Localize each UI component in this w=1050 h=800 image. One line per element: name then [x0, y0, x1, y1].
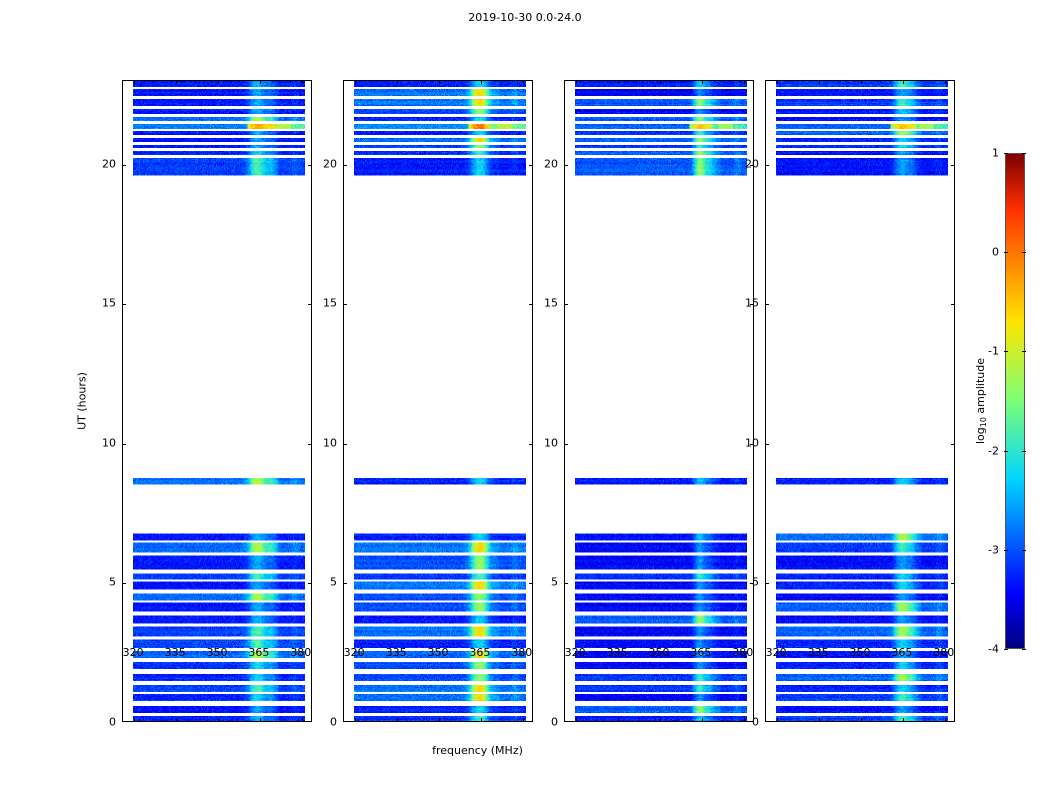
colorbar-ticklabel: 0: [992, 246, 999, 259]
x-axis-ticklabel: 365: [690, 646, 711, 659]
x-axis-tick-top: [777, 80, 778, 84]
x-axis-tick-top: [134, 80, 135, 84]
y-axis-tick-right: [951, 165, 955, 166]
x-axis-tick: [777, 718, 778, 722]
x-axis-ticklabel: 350: [428, 646, 449, 659]
y-axis-tick: [765, 304, 769, 305]
x-axis-tick-top: [218, 80, 219, 84]
y-axis-tick: [122, 304, 126, 305]
x-axis-tick-top: [576, 80, 577, 84]
x-axis-tick-top: [355, 80, 356, 84]
heatmap-panel-yy[interactable]: YY, V9*V15=EA07*EA26: [343, 80, 533, 722]
x-axis-tick-top: [861, 80, 862, 84]
x-axis-ticklabel: 350: [850, 646, 871, 659]
colorbar-tick: [1004, 550, 1008, 551]
x-axis-tick: [861, 718, 862, 722]
x-axis-ticklabel: 365: [891, 646, 912, 659]
y-axis-ticklabel: 5: [731, 576, 759, 589]
spectrogram-image-yy: [344, 81, 532, 721]
y-axis-ticklabel: 0: [309, 716, 337, 729]
x-axis-ticklabel: 350: [649, 646, 670, 659]
colorbar-ticklabel: -1: [988, 345, 999, 358]
y-axis-tick: [122, 165, 126, 166]
y-axis-ticklabel: 0: [530, 716, 558, 729]
colorbar-ticklabel: -3: [988, 543, 999, 556]
x-axis-tick-top: [903, 80, 904, 84]
spectrogram-image-xy: [565, 81, 753, 721]
colorbar-ticklabel: -4: [988, 643, 999, 656]
y-axis-ticklabel: 5: [88, 576, 116, 589]
x-axis-tick: [355, 718, 356, 722]
heatmap-panel-xx[interactable]: XX, V9*V15=EA07*EA26: [122, 80, 312, 722]
y-axis-ticklabel: 10: [731, 436, 759, 449]
x-axis-tick-top: [819, 80, 820, 84]
x-axis-tick: [523, 718, 524, 722]
colorbar-tick: [1004, 252, 1008, 253]
spectrogram-image-xx: [123, 81, 311, 721]
colorbar[interactable]: 10-1-2-3-4: [1005, 153, 1025, 649]
y-axis-ticklabel: 20: [731, 157, 759, 170]
y-axis-tick: [765, 165, 769, 166]
spectrogram-canvas: [344, 81, 532, 721]
x-axis-tick-top: [702, 80, 703, 84]
x-axis-tick: [819, 718, 820, 722]
y-axis-tick-right: [951, 583, 955, 584]
x-axis-tick-top: [744, 80, 745, 84]
y-axis-ticklabel: 0: [88, 716, 116, 729]
y-axis-ticklabel: 10: [530, 436, 558, 449]
heatmap-panel-yx[interactable]: YX, V9*V15=EA07*EA26: [765, 80, 955, 722]
x-axis-tick: [260, 718, 261, 722]
colorbar-tick-right: [1022, 451, 1026, 452]
x-axis-ticklabel: 335: [165, 646, 186, 659]
x-axis-ticklabel: 320: [344, 646, 365, 659]
x-axis-tick: [481, 718, 482, 722]
colorbar-label: log10 amplitude: [974, 358, 990, 444]
y-axis-tick-right: [951, 444, 955, 445]
x-axis-tick: [218, 718, 219, 722]
colorbar-tick-right: [1022, 351, 1026, 352]
y-axis-label: UT (hours): [76, 372, 89, 430]
x-axis-ticklabel: 335: [607, 646, 628, 659]
colorbar-label-subscript: 10: [979, 417, 988, 427]
x-axis-ticklabel: 365: [469, 646, 490, 659]
x-axis-label: frequency (MHz): [0, 744, 955, 757]
figure-canvas: 2019-10-30 0.0-24.0 XX, V9*V15=EA07*EA26…: [0, 0, 1050, 800]
y-axis-ticklabel: 5: [309, 576, 337, 589]
spectrogram-canvas: [766, 81, 954, 721]
y-axis-tick: [564, 444, 568, 445]
y-axis-tick: [122, 444, 126, 445]
x-axis-ticklabel: 320: [766, 646, 787, 659]
x-axis-tick: [439, 718, 440, 722]
x-axis-tick: [702, 718, 703, 722]
y-axis-ticklabel: 0: [731, 716, 759, 729]
x-axis-tick-top: [439, 80, 440, 84]
x-axis-ticklabel: 335: [386, 646, 407, 659]
x-axis-tick-top: [523, 80, 524, 84]
x-axis-tick: [576, 718, 577, 722]
y-axis-ticklabel: 20: [530, 157, 558, 170]
spectrogram-canvas: [123, 81, 311, 721]
x-axis-tick: [302, 718, 303, 722]
y-axis-tick: [564, 165, 568, 166]
colorbar-tick-right: [1022, 252, 1026, 253]
x-axis-tick-top: [660, 80, 661, 84]
y-axis-tick: [343, 304, 347, 305]
y-axis-ticklabel: 20: [309, 157, 337, 170]
y-axis-ticklabel: 15: [309, 297, 337, 310]
x-axis-ticklabel: 380: [290, 646, 311, 659]
x-axis-tick-top: [302, 80, 303, 84]
colorbar-gradient: [1005, 153, 1025, 649]
y-axis-tick: [343, 444, 347, 445]
x-axis-ticklabel: 335: [808, 646, 829, 659]
x-axis-ticklabel: 365: [248, 646, 269, 659]
y-axis-ticklabel: 15: [530, 297, 558, 310]
heatmap-panel-xy[interactable]: XY, V9*V15=EA07*EA26: [564, 80, 754, 722]
x-axis-tick-top: [397, 80, 398, 84]
x-axis-tick-top: [618, 80, 619, 84]
x-axis-ticklabel: 380: [732, 646, 753, 659]
colorbar-tick-right: [1022, 550, 1026, 551]
x-axis-ticklabel: 380: [933, 646, 954, 659]
y-axis-ticklabel: 15: [731, 297, 759, 310]
spectrogram-canvas: [565, 81, 753, 721]
x-axis-tick: [134, 718, 135, 722]
y-axis-tick: [564, 583, 568, 584]
x-axis-tick-top: [260, 80, 261, 84]
colorbar-ticklabel: 1: [992, 147, 999, 160]
x-axis-ticklabel: 320: [123, 646, 144, 659]
x-axis-ticklabel: 320: [565, 646, 586, 659]
x-axis-tick: [618, 718, 619, 722]
y-axis-ticklabel: 5: [530, 576, 558, 589]
x-axis-ticklabel: 350: [207, 646, 228, 659]
figure-suptitle: 2019-10-30 0.0-24.0: [0, 11, 1050, 24]
colorbar-tick: [1004, 451, 1008, 452]
colorbar-label-base: log: [974, 427, 987, 444]
colorbar-tick-right: [1022, 153, 1026, 154]
x-axis-tick-top: [945, 80, 946, 84]
y-axis-tick: [343, 165, 347, 166]
x-axis-tick-top: [176, 80, 177, 84]
y-axis-tick: [765, 444, 769, 445]
colorbar-tick: [1004, 351, 1008, 352]
x-axis-ticklabel: 380: [511, 646, 532, 659]
colorbar-canvas: [1006, 154, 1024, 648]
y-axis-tick: [343, 583, 347, 584]
y-axis-tick-right: [951, 304, 955, 305]
x-axis-tick: [903, 718, 904, 722]
colorbar-tick: [1004, 153, 1008, 154]
y-axis-ticklabel: 20: [88, 157, 116, 170]
y-axis-tick: [765, 583, 769, 584]
colorbar-tick-right: [1022, 649, 1026, 650]
x-axis-tick: [397, 718, 398, 722]
colorbar-ticklabel: -2: [988, 444, 999, 457]
y-axis-tick: [564, 304, 568, 305]
y-axis-ticklabel: 10: [88, 436, 116, 449]
spectrogram-image-yx: [766, 81, 954, 721]
x-axis-tick: [176, 718, 177, 722]
colorbar-tick: [1004, 649, 1008, 650]
colorbar-label-rest: amplitude: [974, 358, 987, 417]
x-axis-tick: [945, 718, 946, 722]
x-axis-tick: [660, 718, 661, 722]
x-axis-tick-top: [481, 80, 482, 84]
y-axis-tick: [122, 583, 126, 584]
y-axis-ticklabel: 10: [309, 436, 337, 449]
y-axis-ticklabel: 15: [88, 297, 116, 310]
